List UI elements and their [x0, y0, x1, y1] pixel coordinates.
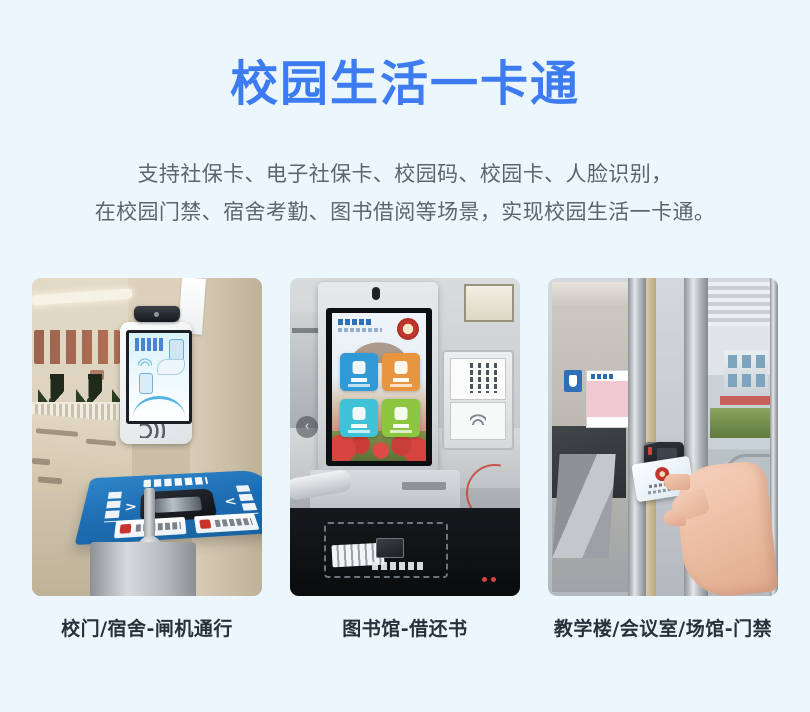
turnstile-brand-text: [143, 477, 208, 488]
middle-finger: [664, 510, 686, 526]
kiosk-tile-search[interactable]: [340, 399, 378, 437]
panel-text-block: [450, 358, 506, 400]
camera-icon: [372, 287, 380, 300]
promo-page: 校园生活一卡通 支持社保卡、电子社保卡、校园码、校园卡、人脸识别， 在校园门禁、…: [0, 0, 810, 712]
scenario-card-library[interactable]: ‹: [290, 278, 520, 641]
turnstile-left-label: [104, 492, 122, 523]
status-led-icon: [491, 577, 496, 582]
page-subtitle: 支持社保卡、电子社保卡、校园码、校园卡、人脸识别， 在校园门禁、宿舍考勤、图书借…: [0, 155, 810, 231]
scenario-card-gate[interactable]: > <: [32, 278, 262, 641]
wall-poster: [586, 370, 630, 428]
kiosk-tile-borrow[interactable]: [340, 353, 378, 391]
receipt-slot: [402, 482, 446, 490]
chevron-left-icon: <: [223, 495, 239, 509]
phone-icon: [139, 373, 153, 394]
kiosk-screen-content: [332, 313, 426, 461]
turnstile-top-panel: > <: [75, 470, 262, 545]
page-title: 校园生活一卡通: [0, 58, 810, 111]
panel-nfc-icon: [450, 402, 506, 440]
institution-seal-icon: [397, 318, 419, 340]
kiosk-touch-screen[interactable]: [326, 308, 432, 466]
rfid-pad: [376, 538, 404, 558]
ceiling-louvre: [706, 282, 774, 326]
decorative-arc: [133, 396, 185, 417]
subtitle-line-2: 在校园门禁、宿舍考勤、图书借阅等场景，实现校园生活一卡通。: [0, 193, 810, 231]
terminal-headline-text: [135, 338, 165, 351]
subtitle-line-1: 支持社保卡、电子社保卡、校园码、校园卡、人脸识别，: [0, 155, 810, 193]
index-finger: [664, 474, 690, 490]
door-frame-mullion: [628, 278, 646, 596]
interior-ceiling: [552, 282, 630, 308]
photo-door-access: [548, 278, 778, 596]
phone-icon: [169, 339, 184, 361]
card-caption-library: 图书馆-借还书: [342, 614, 467, 641]
deck-label-text: [372, 562, 424, 570]
card-caption-gate: 校门/宿舍-闸机通行: [61, 614, 233, 641]
scenario-card-row: > <: [32, 278, 778, 641]
green-hedge: [710, 408, 774, 438]
carousel-prev-icon[interactable]: ‹: [296, 416, 318, 438]
hand-icon: [157, 359, 185, 375]
camera-icon: [134, 306, 180, 322]
opposite-building: [724, 350, 768, 394]
photo-library-kiosk: ‹: [290, 278, 520, 596]
metal-podium: [552, 454, 615, 558]
turnstile-pedestal: [90, 542, 196, 596]
kiosk-screen-subtitle: [338, 328, 382, 332]
rfid-book-deck[interactable]: [290, 508, 520, 596]
terminal-screen: [126, 330, 192, 424]
red-banner: [720, 396, 774, 405]
chevron-right-icon: >: [124, 501, 137, 515]
turnstile-right-label: [236, 485, 259, 514]
calligraphy-text: [34, 330, 120, 364]
photo-gate-turnstile: > <: [32, 278, 262, 596]
kiosk-tile-return[interactable]: [382, 353, 420, 391]
wifi-wave-icon: [138, 357, 152, 366]
kiosk-tile-query[interactable]: [382, 399, 420, 437]
scenario-card-door[interactable]: 教学楼/会议室/场馆-门禁: [548, 278, 778, 641]
wall-notice-board: [464, 284, 514, 322]
card-caption-door: 教学楼/会议室/场馆-门禁: [554, 614, 772, 641]
wall-info-panel: [442, 350, 514, 450]
payment-sticker: [194, 513, 260, 533]
nfc-icon: [140, 424, 168, 438]
door-edge: [646, 278, 656, 596]
restroom-sign-icon: [564, 370, 582, 392]
kiosk-screen-title: [338, 319, 372, 325]
